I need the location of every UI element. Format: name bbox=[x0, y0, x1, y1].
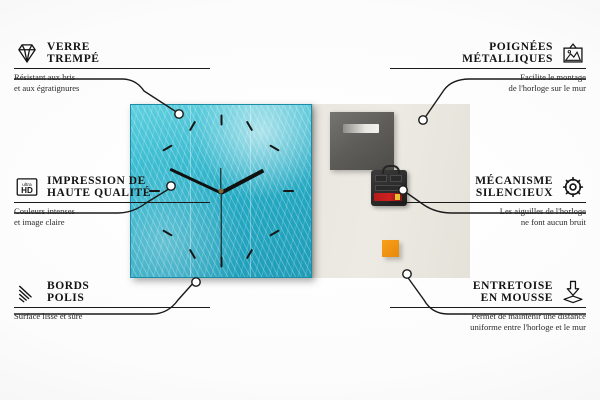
mechanism-hook-icon bbox=[382, 165, 400, 174]
tick-10 bbox=[162, 144, 173, 151]
hour-hand bbox=[220, 169, 264, 195]
callout-header: MÉCANISME SILENCIEUX bbox=[390, 174, 586, 200]
callout-subtitle: Les aiguilles de l'horloge bbox=[390, 206, 586, 217]
diamond-icon bbox=[14, 40, 40, 66]
callout-rule bbox=[14, 202, 210, 203]
foam-spacer bbox=[382, 240, 399, 257]
callout-subtitle: Résistant aux bris bbox=[14, 72, 210, 83]
tick-4 bbox=[269, 229, 280, 236]
callout-subtitle: et image claire bbox=[14, 217, 210, 228]
callout-title: BORDS POLIS bbox=[47, 280, 89, 305]
callout-subtitle: uniforme entre l'horloge et le mur bbox=[390, 322, 586, 333]
svg-text:HD: HD bbox=[21, 186, 33, 195]
tick-12 bbox=[221, 115, 223, 126]
tick-8 bbox=[162, 229, 173, 236]
callout-rule bbox=[390, 202, 586, 203]
callout-rule bbox=[390, 307, 586, 308]
callout-subtitle: Permet de maintenir une distance bbox=[390, 311, 586, 322]
callout-impression-haute-qualite: ultra HD IMPRESSION DE HAUTE QUALITÉ Cou… bbox=[14, 174, 210, 227]
callout-title: MÉCANISME SILENCIEUX bbox=[475, 175, 553, 200]
callout-rule bbox=[14, 68, 210, 69]
second-hand bbox=[220, 192, 221, 260]
callout-title: VERRE TREMPÉ bbox=[47, 41, 100, 66]
callout-subtitle: ne font aucun bruit bbox=[390, 217, 586, 228]
callout-subtitle: Facilite le montage bbox=[390, 72, 586, 83]
callout-rule bbox=[390, 68, 586, 69]
callout-header: BORDS POLIS bbox=[14, 279, 210, 305]
picture-frame-hook-icon bbox=[560, 40, 586, 66]
callout-poignees-metalliques: POIGNÉES MÉTALLIQUES Facilite le montage… bbox=[390, 40, 586, 93]
callout-header: VERRE TREMPÉ bbox=[14, 40, 210, 66]
foam-spacer-arrow-icon bbox=[560, 279, 586, 305]
callout-header: ultra HD IMPRESSION DE HAUTE QUALITÉ bbox=[14, 174, 210, 200]
ultra-hd-icon: ultra HD bbox=[14, 174, 40, 200]
callout-verre-trempe: VERRE TREMPÉ Résistant aux bris et aux é… bbox=[14, 40, 210, 93]
callout-header: POIGNÉES MÉTALLIQUES bbox=[390, 40, 586, 66]
tick-2 bbox=[269, 144, 280, 151]
callout-rule bbox=[14, 307, 210, 308]
polished-edge-icon bbox=[14, 279, 40, 305]
callout-title: ENTRETOISE EN MOUSSE bbox=[473, 280, 553, 305]
mechanism-slot bbox=[375, 175, 387, 182]
metal-handle-plate bbox=[330, 112, 394, 170]
callout-subtitle: et aux égratignures bbox=[14, 83, 210, 94]
hands-center-cap bbox=[219, 189, 224, 194]
callout-header: ENTRETOISE EN MOUSSE bbox=[390, 279, 586, 305]
plate-handle-strip bbox=[343, 124, 379, 133]
callout-subtitle: Couleurs intenses bbox=[14, 206, 210, 217]
callout-title: IMPRESSION DE HAUTE QUALITÉ bbox=[47, 175, 151, 200]
tick-3 bbox=[283, 190, 294, 192]
callout-subtitle: Surface lisse et sûre bbox=[14, 311, 210, 322]
callout-bords-polis: BORDS POLIS Surface lisse et sûre bbox=[14, 279, 210, 322]
gear-icon bbox=[560, 174, 586, 200]
callout-entretoise-en-mousse: ENTRETOISE EN MOUSSE Permet de maintenir… bbox=[390, 279, 586, 332]
product-infographic: VERRE TREMPÉ Résistant aux bris et aux é… bbox=[0, 0, 600, 400]
callout-mecanisme-silencieux: MÉCANISME SILENCIEUX Les aigu bbox=[390, 174, 586, 227]
callout-title: POIGNÉES MÉTALLIQUES bbox=[462, 41, 553, 66]
callout-subtitle: de l'horloge sur le mur bbox=[390, 83, 586, 94]
